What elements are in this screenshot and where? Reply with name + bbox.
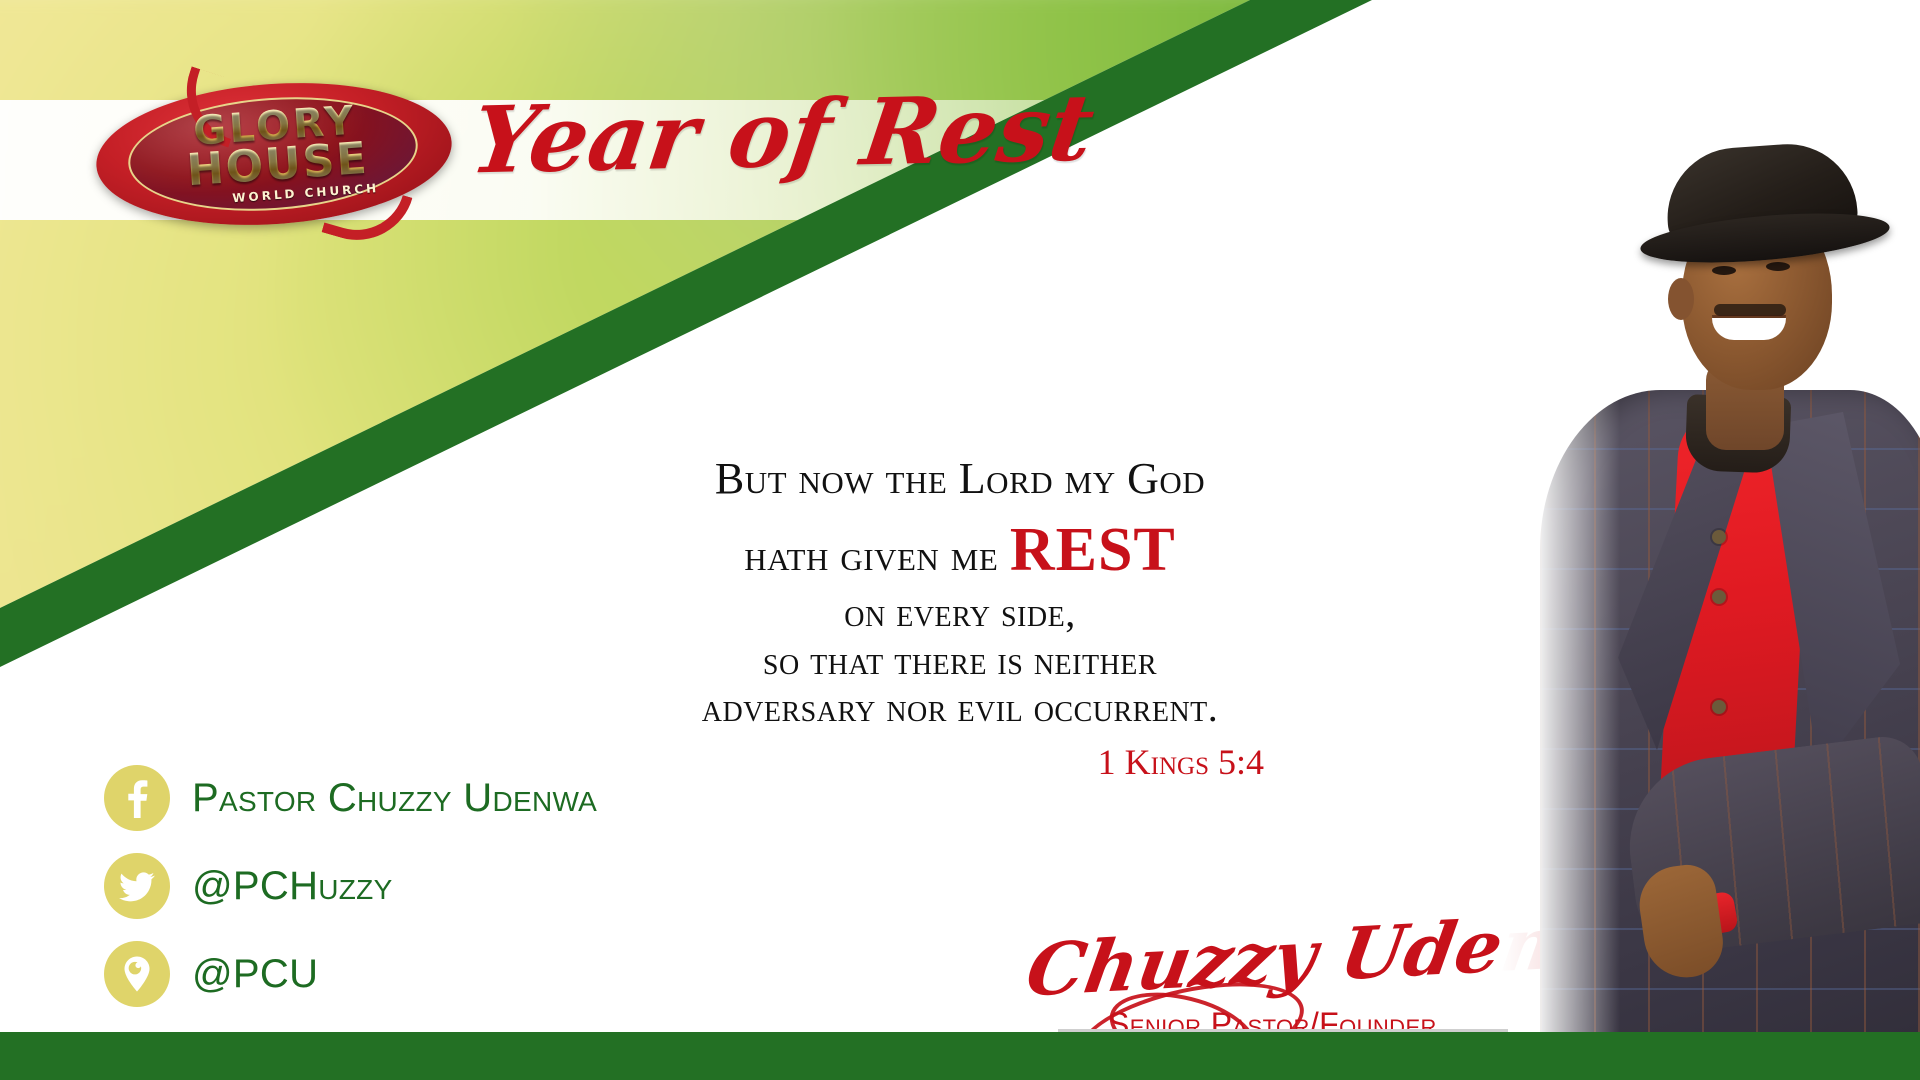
scripture-line-3: on every side,: [600, 591, 1320, 634]
pastor-eye-right: [1766, 262, 1790, 271]
social-label-facebook: Pastor Chuzzy Udenwa: [192, 776, 597, 821]
scripture-line-2: hath given me REST: [600, 517, 1320, 584]
scripture-line-2-text: hath given me: [744, 531, 1010, 580]
social-row-facebook[interactable]: Pastor Chuzzy Udenwa: [104, 755, 664, 841]
bottom-green-bar: [0, 1032, 1920, 1080]
pastor-shirt-button-2: [1712, 590, 1726, 604]
pastor-edge-fade: [1500, 60, 1620, 1080]
pastor-ear: [1668, 278, 1694, 320]
scripture-reference: 1 Kings 5:4: [600, 741, 1320, 783]
twitter-icon[interactable]: [104, 853, 170, 919]
social-label-periscope: @PCU: [192, 952, 318, 997]
pastor-shirt-button-3: [1712, 700, 1726, 714]
social-row-twitter[interactable]: @PCHuzzy: [104, 843, 664, 929]
logo-text-group: GLORY HOUSE WORLD CHURCH: [149, 99, 405, 210]
pastor-smile: [1712, 318, 1786, 340]
scripture-line-5: adversary nor evil occurrent.: [600, 686, 1320, 729]
social-row-periscope[interactable]: @PCU: [104, 931, 664, 1017]
pastor-moustache: [1714, 304, 1786, 316]
pastor-shirt-button-1: [1712, 530, 1726, 544]
scripture-line-4: so that there is neither: [600, 639, 1320, 682]
pastor-eye-left: [1712, 266, 1736, 275]
periscope-icon[interactable]: [104, 941, 170, 1007]
facebook-icon[interactable]: [104, 765, 170, 831]
year-theme-title: Year of Rest: [459, 82, 1100, 235]
scripture-line-1: But now the Lord my God: [600, 455, 1320, 503]
scripture-block: But now the Lord my God hath given me RE…: [600, 455, 1320, 783]
social-label-twitter: @PCHuzzy: [192, 864, 393, 909]
social-links-list: Pastor Chuzzy Udenwa @PCHuzzy @PCU: [104, 755, 664, 1019]
banner-canvas: GLORY HOUSE WORLD CHURCH Year of Rest Bu…: [0, 0, 1920, 1080]
scripture-highlight-rest: REST: [1010, 516, 1176, 584]
pastor-portrait: [1500, 60, 1920, 1080]
church-logo[interactable]: GLORY HOUSE WORLD CHURCH: [92, 62, 462, 242]
